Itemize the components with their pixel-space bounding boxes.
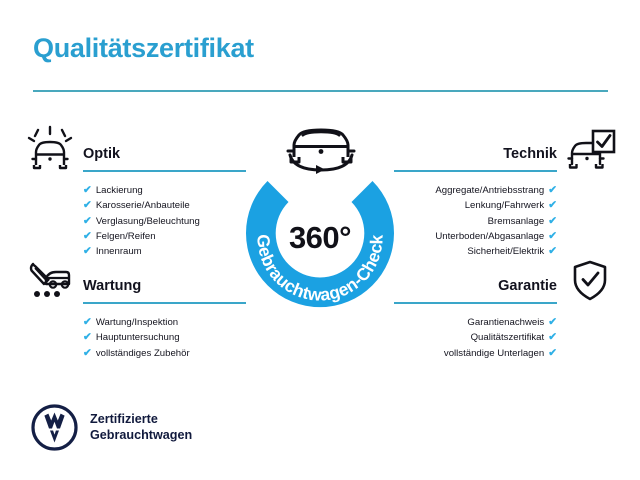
section-technik-header: Technik: [388, 124, 620, 176]
section-technik: Technik Aggregate/Antriebsstrang✔ Lenkun…: [388, 124, 620, 259]
check-icon: ✔: [548, 214, 557, 229]
check-icon: ✔: [83, 229, 92, 244]
section-optik-list: ✔Lackierung ✔Karosserie/Anbauteile ✔Verg…: [20, 183, 252, 259]
list-item-label: Qualitätszertifikat: [471, 332, 545, 343]
list-item-label: Karosserie/Anbauteile: [96, 200, 190, 211]
list-item: ✔Hauptuntersuchung: [83, 330, 252, 345]
title-divider: [33, 90, 608, 92]
360-gebrauchtwagen-check-badge: Gebrauchtwagen-Check 360°: [232, 150, 408, 326]
footer-line-2: Gebrauchtwagen: [90, 428, 192, 444]
page-title: Qualitätszertifikat: [33, 33, 254, 64]
section-wartung: Wartung ✔Wartung/Inspektion ✔Hauptunters…: [20, 256, 252, 361]
shield-check-icon: [562, 256, 618, 304]
list-item-label: Wartung/Inspektion: [96, 317, 178, 328]
section-technik-divider: [394, 170, 557, 172]
list-item-label: Verglasung/Beleuchtung: [96, 216, 200, 227]
list-item-label: Bremsanlage: [488, 216, 545, 227]
svg-text:Gebrauchtwagen-Check: Gebrauchtwagen-Check: [253, 234, 386, 305]
volkswagen-logo: [31, 404, 78, 451]
list-item: ✔Karosserie/Anbauteile: [83, 198, 252, 213]
section-technik-title: Technik: [503, 146, 557, 162]
check-icon: ✔: [548, 330, 557, 345]
check-icon: ✔: [548, 183, 557, 198]
list-item: Aggregate/Antriebsstrang✔: [388, 183, 557, 198]
check-icon: ✔: [83, 183, 92, 198]
section-garantie-title: Garantie: [498, 278, 557, 294]
list-item: ✔Verglasung/Beleuchtung: [83, 214, 252, 229]
section-optik: Optik ✔Lackierung ✔Karosserie/Anbauteile…: [20, 124, 252, 259]
check-icon: ✔: [548, 198, 557, 213]
wrench-car-icon: [22, 256, 78, 304]
section-optik-header: Optik: [20, 124, 252, 176]
sparkle-car-icon: [22, 124, 78, 172]
footer-brand: Zertifizierte Gebrauchtwagen: [31, 404, 192, 451]
check-icon: ✔: [83, 330, 92, 345]
check-icon: ✔: [548, 229, 557, 244]
list-item: Lenkung/Fahrwerk✔: [388, 198, 557, 213]
car-rotate-360-icon: [276, 117, 366, 179]
section-garantie-header: Garantie: [388, 256, 620, 308]
list-item-label: Felgen/Reifen: [96, 231, 156, 242]
section-garantie: Garantie Garantienachweis✔ Qualitätszert…: [388, 256, 620, 361]
qualitaetszertifikat-page: Qualitätszertifikat: [0, 0, 640, 480]
list-item: Unterboden/Abgasanlage✔: [388, 229, 557, 244]
list-item-label: Lackierung: [96, 185, 143, 196]
list-item-label: vollständiges Zubehör: [96, 348, 190, 359]
footer-brand-text: Zertifizierte Gebrauchtwagen: [90, 412, 192, 443]
badge-ring-label: Gebrauchtwagen-Check: [253, 234, 386, 305]
section-technik-list: Aggregate/Antriebsstrang✔ Lenkung/Fahrwe…: [388, 183, 620, 259]
list-item-label: Garantienachweis: [467, 317, 544, 328]
check-icon: ✔: [83, 198, 92, 213]
footer-line-1: Zertifizierte: [90, 412, 192, 428]
list-item-label: Lenkung/Fahrwerk: [465, 200, 544, 211]
section-wartung-header: Wartung: [20, 256, 252, 308]
list-item: ✔Wartung/Inspektion: [83, 315, 252, 330]
check-icon: ✔: [83, 346, 92, 361]
section-optik-title: Optik: [83, 146, 120, 162]
section-optik-divider: [83, 170, 246, 172]
check-icon: ✔: [83, 214, 92, 229]
car-checkbox-icon: [562, 124, 618, 172]
check-icon: ✔: [83, 315, 92, 330]
section-wartung-list: ✔Wartung/Inspektion ✔Hauptuntersuchung ✔…: [20, 315, 252, 361]
list-item: vollständige Unterlagen✔: [388, 346, 557, 361]
list-item: ✔Lackierung: [83, 183, 252, 198]
section-garantie-divider: [394, 302, 557, 304]
list-item-label: vollständige Unterlagen: [444, 348, 544, 359]
list-item-label: Hauptuntersuchung: [96, 332, 180, 343]
list-item-label: Aggregate/Antriebsstrang: [435, 185, 544, 196]
check-icon: ✔: [548, 346, 557, 361]
section-garantie-list: Garantienachweis✔ Qualitätszertifikat✔ v…: [388, 315, 620, 361]
list-item: ✔vollständiges Zubehör: [83, 346, 252, 361]
list-item: ✔Felgen/Reifen: [83, 229, 252, 244]
list-item: Qualitätszertifikat✔: [388, 330, 557, 345]
list-item: Garantienachweis✔: [388, 315, 557, 330]
list-item: Bremsanlage✔: [388, 214, 557, 229]
check-icon: ✔: [548, 315, 557, 330]
section-wartung-divider: [83, 302, 246, 304]
section-wartung-title: Wartung: [83, 278, 141, 294]
list-item-label: Unterboden/Abgasanlage: [435, 231, 544, 242]
